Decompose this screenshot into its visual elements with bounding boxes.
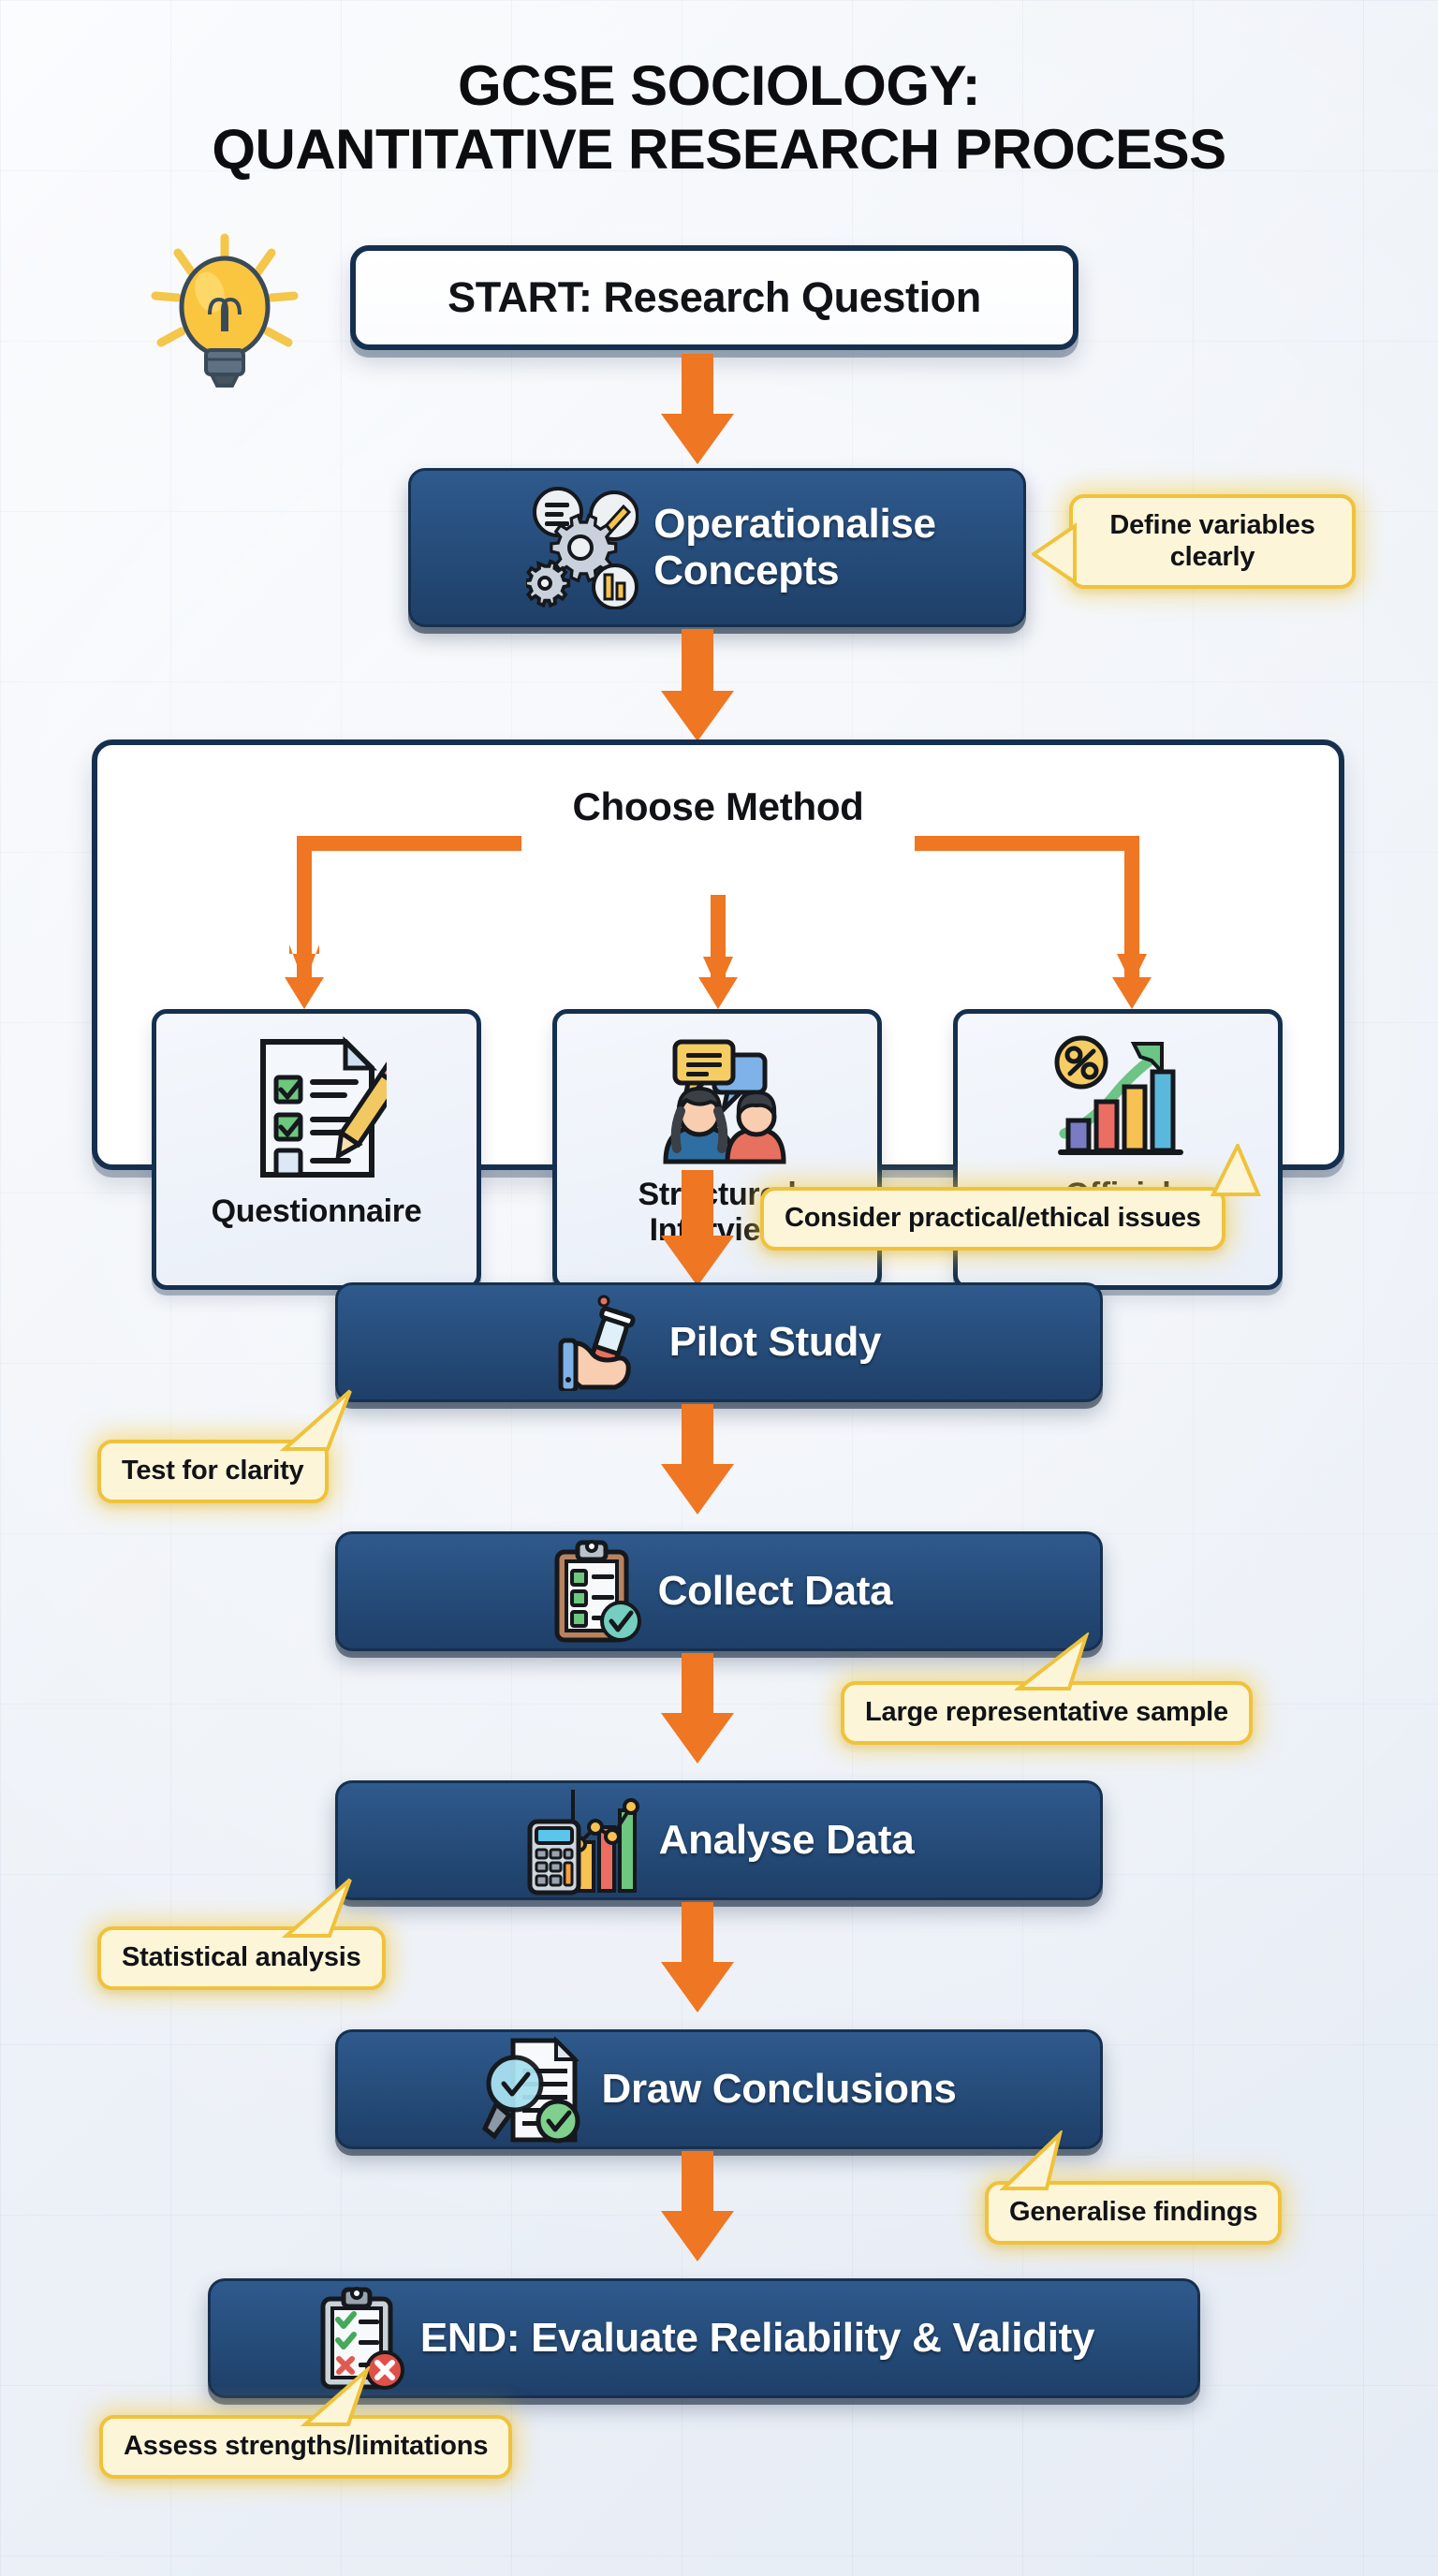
callout-test-clarity-text: Test for clarity <box>122 1456 304 1486</box>
questionnaire-icon <box>246 1034 387 1182</box>
test-tube-icon <box>557 1294 654 1391</box>
callout-assess-strengths-text: Assess strengths/limitations <box>124 2431 488 2461</box>
callout-tail-define-variables <box>1032 520 1077 588</box>
infographic-canvas: GCSE Sociology: Quantitative Research Pr… <box>0 0 1438 2576</box>
callout-statistical-analysis-text: Statistical analysis <box>122 1942 361 1972</box>
end-label: END: Evaluate Reliability & Validity <box>420 2315 1094 2362</box>
callout-tail-statistical-analysis <box>281 1876 358 1939</box>
calculator-chart-icon <box>524 1784 644 1896</box>
callout-tail-assess-strengths <box>300 2366 378 2428</box>
start-box[interactable]: START: Research Question <box>350 245 1078 350</box>
gears-icon <box>526 486 638 609</box>
arrow-analyse-to-conclusions <box>646 1902 749 2014</box>
operationalise-box[interactable]: Operationalise Concepts <box>408 468 1026 627</box>
callout-large-sample-text: Large representative sample <box>865 1697 1228 1727</box>
callout-practical-ethical-text: Consider practical/ethical issues <box>785 1203 1201 1233</box>
collect-data-label: Collect Data <box>658 1568 893 1615</box>
callout-define-variables: Define variables clearly <box>1069 494 1356 589</box>
bar-chart-growth-icon <box>1048 1034 1188 1165</box>
magnifier-document-icon <box>481 2035 586 2144</box>
callout-tail-generalise <box>1000 2130 1075 2192</box>
analyse-data-label: Analyse Data <box>659 1817 915 1864</box>
arrow-start-to-operationalise <box>646 354 749 466</box>
callout-tail-test-clarity <box>279 1387 356 1453</box>
callout-tail-large-sample <box>1015 1632 1095 1692</box>
clipboard-check-icon <box>546 1539 643 1644</box>
lightbulb-icon <box>140 232 309 389</box>
arrow-collect-to-analyse <box>646 1653 749 1765</box>
title-line-1: GCSE Sociology: <box>458 54 980 117</box>
page-title: GCSE Sociology: Quantitative Research Pr… <box>0 54 1438 183</box>
arrow-pilot-to-collect <box>646 1404 749 1516</box>
callout-tail-practical-ethical <box>1196 1144 1271 1196</box>
method-option-0-label: Questionnaire <box>212 1193 422 1229</box>
pilot-study-box[interactable]: Pilot Study <box>335 1282 1103 1402</box>
start-label: START: Research Question <box>448 273 981 322</box>
callout-practical-ethical: Consider practical/ethical issues <box>760 1187 1225 1251</box>
arrow-conclusions-to-end <box>646 2151 749 2263</box>
callout-generalise-text: Generalise findings <box>1009 2197 1257 2227</box>
operationalise-label-line1: Operationalise <box>653 501 935 548</box>
title-line-2: Quantitative Research Process <box>0 118 1438 182</box>
method-option-questionnaire[interactable]: Questionnaire <box>152 1009 481 1290</box>
collect-data-box[interactable]: Collect Data <box>335 1531 1103 1651</box>
choose-method-panel: Choose Method <box>92 739 1344 1170</box>
arrow-method-to-pilot <box>646 1170 749 1288</box>
interview-icon <box>647 1034 787 1165</box>
draw-conclusions-label: Draw Conclusions <box>601 2066 956 2113</box>
arrow-operationalise-to-method <box>646 629 749 743</box>
operationalise-label-line2: Concepts <box>653 548 935 594</box>
draw-conclusions-box[interactable]: Draw Conclusions <box>335 2029 1103 2149</box>
analyse-data-box[interactable]: Analyse Data <box>335 1780 1103 1900</box>
pilot-study-label: Pilot Study <box>669 1319 881 1366</box>
callout-define-variables-text: Define variables clearly <box>1109 510 1314 572</box>
